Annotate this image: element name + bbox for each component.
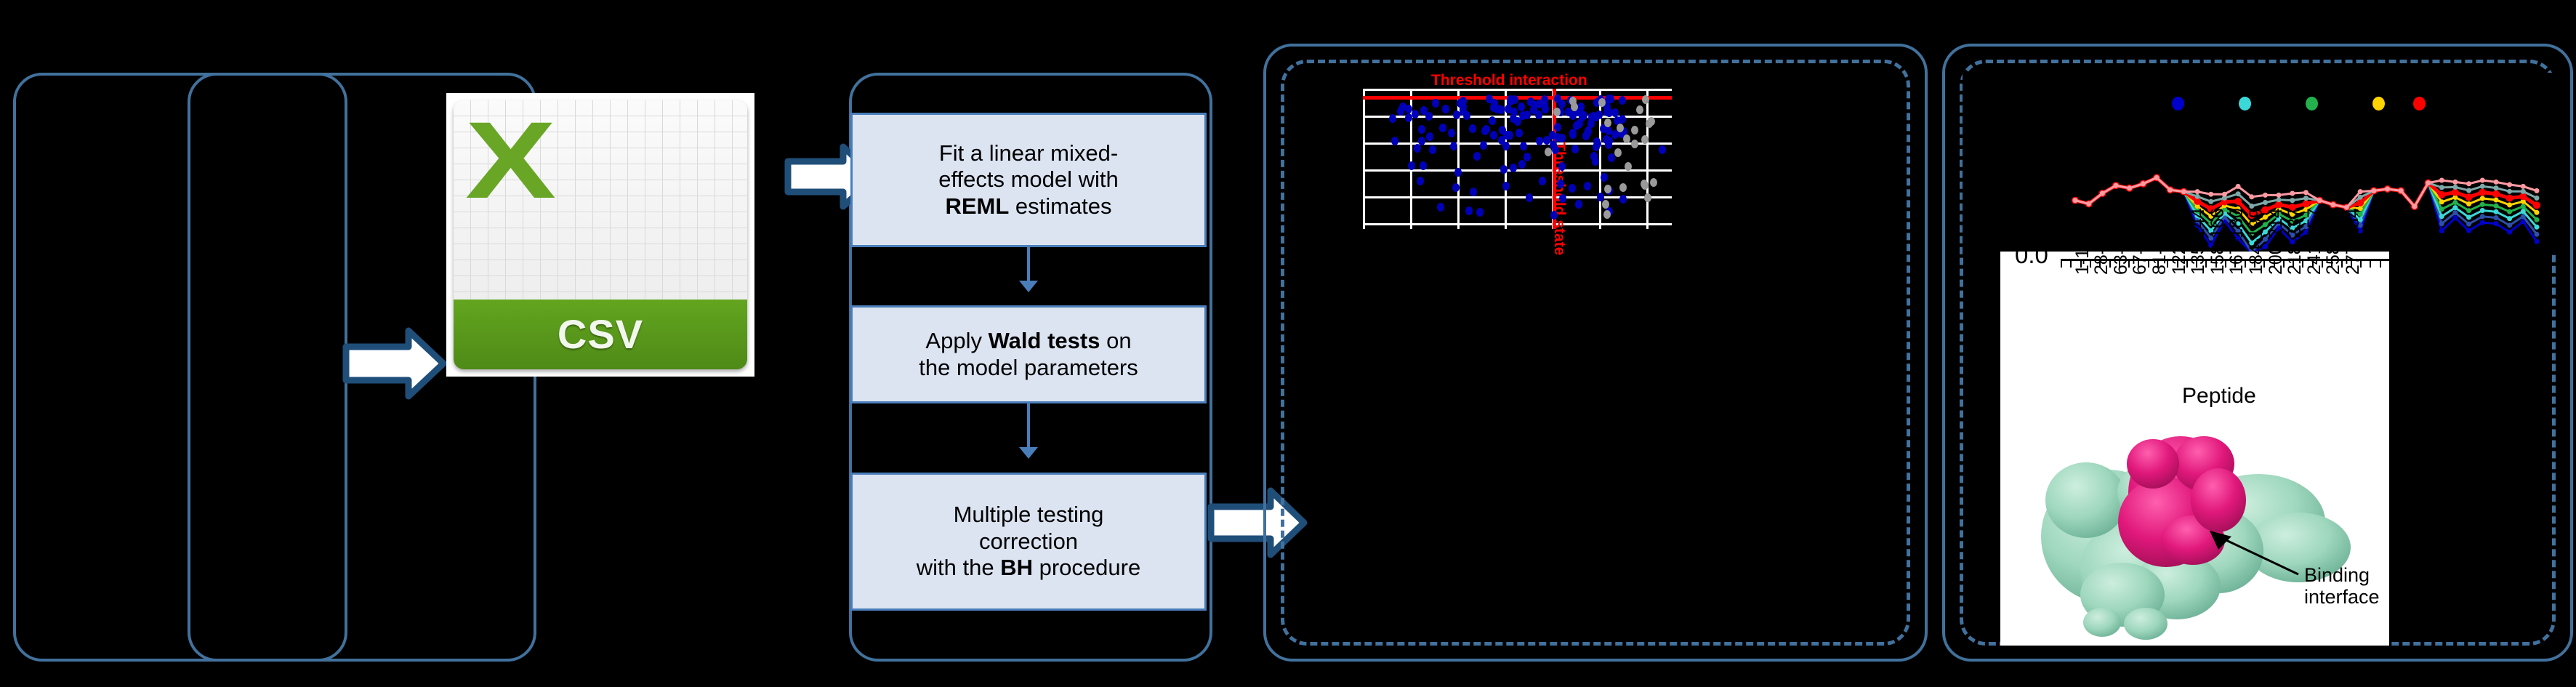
peptide-series-marker bbox=[2208, 192, 2213, 197]
volcano-point bbox=[1569, 184, 1576, 193]
step-bh-box[interactable]: Multiple testing correction with the BH … bbox=[850, 473, 1207, 611]
peptide-x-label: 241-257 bbox=[2304, 208, 2325, 275]
connector-model-wald-tip bbox=[1019, 281, 1038, 292]
volcano-point bbox=[1391, 137, 1398, 145]
peptide-series-marker bbox=[2263, 193, 2268, 198]
volcano-point bbox=[1577, 103, 1585, 111]
volcano-point-ns bbox=[1636, 105, 1643, 114]
volcano-point-ns bbox=[1619, 183, 1627, 192]
peptide-series-marker bbox=[2234, 198, 2242, 205]
peptide-x-tick bbox=[2389, 259, 2391, 268]
peptide-series-marker bbox=[2439, 199, 2444, 204]
peptide-series-marker bbox=[2277, 197, 2282, 202]
csv-letter: X bbox=[465, 105, 627, 214]
volcano-point bbox=[1439, 124, 1446, 132]
peptide-x-label: 184-199 bbox=[2246, 208, 2267, 275]
peptide-series-marker bbox=[2452, 180, 2458, 185]
volcano-point bbox=[1389, 114, 1396, 123]
arrow-to-data bbox=[342, 325, 448, 402]
peptide-x-label: 122-129 bbox=[2169, 208, 2190, 275]
peptide-series-marker bbox=[2479, 189, 2486, 196]
peptide-axis-area: 0.0 1-1528-4463-7367-7581-101122-129135-… bbox=[2000, 252, 2389, 413]
peptide-series-marker bbox=[2480, 196, 2485, 201]
step-wald-pre: Apply bbox=[925, 328, 988, 353]
peptide-series-marker bbox=[2480, 202, 2485, 207]
csv-label: CSV bbox=[558, 310, 643, 358]
volcano-point bbox=[1550, 211, 1558, 220]
peptide-series-marker bbox=[2480, 208, 2485, 213]
volcano-point bbox=[1580, 111, 1587, 120]
peptide-series-marker bbox=[2480, 214, 2485, 219]
volcano-point bbox=[1575, 200, 1582, 209]
volcano-point bbox=[1576, 119, 1583, 128]
peptide-series-marker bbox=[2466, 188, 2471, 193]
volcano-point bbox=[1535, 111, 1542, 119]
peptide-series-marker bbox=[2494, 185, 2499, 190]
peptide-series-marker bbox=[2535, 210, 2540, 215]
volcano-point bbox=[1603, 135, 1610, 144]
volcano-point bbox=[1414, 144, 1421, 153]
volcano-point-ns bbox=[1631, 140, 1638, 148]
volcano-point bbox=[1569, 130, 1577, 139]
volcano-point-ns bbox=[1569, 97, 1577, 105]
csv-badge: X CSV bbox=[454, 100, 747, 369]
peptide-x-label: 63-73 bbox=[2111, 228, 2132, 275]
peptide-x-label: 277-284 bbox=[2343, 208, 2364, 275]
step-bh-line3pre: with the bbox=[917, 555, 1000, 580]
volcano-point-ns bbox=[1648, 117, 1655, 126]
volcano-point bbox=[1426, 132, 1433, 141]
peptide-series-marker bbox=[2168, 188, 2173, 193]
volcano-point bbox=[1450, 142, 1457, 150]
peptide-series-marker bbox=[2195, 194, 2200, 199]
peptide-series-marker bbox=[2521, 184, 2526, 189]
volcano-plot bbox=[1363, 227, 1672, 374]
peptide-series-marker bbox=[2439, 221, 2444, 226]
binding-interface-line1: Binding bbox=[2304, 564, 2380, 586]
step-bh-line2: correction bbox=[979, 529, 1078, 554]
peptide-series-marker bbox=[2358, 189, 2363, 194]
peptide-series-marker bbox=[2358, 195, 2363, 200]
peptide-series-marker bbox=[2452, 205, 2458, 210]
volcano-point bbox=[1518, 160, 1526, 169]
peptide-series-marker bbox=[2290, 191, 2295, 196]
volcano-point bbox=[1607, 95, 1614, 103]
peptide-series-marker bbox=[2466, 193, 2473, 201]
volcano-point-ns bbox=[1604, 185, 1611, 193]
peptide-series-marker bbox=[2181, 189, 2186, 194]
peptide-x-label: 135-144 bbox=[2188, 208, 2209, 275]
protein-figure: Binding interface bbox=[2000, 413, 2389, 646]
volcano-point bbox=[1470, 188, 1477, 196]
peptide-x-label: 158-166 bbox=[2207, 208, 2229, 275]
volcano-point bbox=[1432, 99, 1439, 108]
peptide-series-marker bbox=[2277, 193, 2282, 198]
csv-file-icon: X CSV bbox=[446, 93, 754, 377]
protein-surface-render bbox=[2000, 413, 2389, 646]
volcano-point bbox=[1408, 161, 1415, 170]
volcano-point bbox=[1481, 126, 1489, 135]
step-bh-bold: BH bbox=[1000, 555, 1033, 580]
volcano-point bbox=[1520, 142, 1527, 150]
volcano-point bbox=[1399, 103, 1406, 111]
peptide-series-marker bbox=[2222, 192, 2227, 197]
volcano-point bbox=[1539, 177, 1546, 185]
volcano-point bbox=[1500, 165, 1508, 174]
volcano-point bbox=[1541, 95, 1548, 104]
peptide-series-marker bbox=[2439, 185, 2444, 190]
step-wald-line2: the model parameters bbox=[919, 355, 1138, 380]
peptide-series-marker bbox=[2452, 200, 2458, 205]
peptide-series-marker bbox=[2507, 222, 2512, 228]
peptide-series-marker bbox=[2154, 175, 2160, 180]
peptide-series-marker bbox=[2494, 221, 2499, 226]
peptide-series-marker bbox=[2371, 188, 2376, 193]
volcano-point-ns bbox=[1642, 95, 1649, 104]
peptide-series-marker bbox=[2317, 198, 2322, 203]
volcano-point bbox=[1571, 145, 1579, 153]
volcano-point bbox=[1469, 124, 1476, 133]
step-bh-line1: Multiple testing bbox=[954, 502, 1104, 527]
volcano-point bbox=[1606, 108, 1613, 117]
peptide-series-marker bbox=[2507, 189, 2512, 194]
step-model-box[interactable]: Fit a linear mixed- effects model with R… bbox=[850, 113, 1207, 247]
volcano-point bbox=[1510, 164, 1517, 172]
volcano-point bbox=[1510, 108, 1518, 116]
peptide-series-marker bbox=[2399, 188, 2404, 193]
peptide-series-marker bbox=[2438, 191, 2445, 198]
volcano-point bbox=[1536, 137, 1543, 145]
volcano-point bbox=[1531, 101, 1538, 110]
volcano-point bbox=[1437, 203, 1444, 212]
peptide-series-marker bbox=[2236, 191, 2241, 196]
binding-interface-caption: Binding interface bbox=[2304, 564, 2380, 608]
peptide-x-label: 1-15 bbox=[2072, 238, 2093, 275]
peptide-series-marker bbox=[2385, 187, 2390, 192]
volcano-point bbox=[1594, 140, 1601, 148]
step-model-line1: Fit a linear mixed- bbox=[939, 140, 1118, 166]
peptide-x-label: 200-214 bbox=[2266, 208, 2287, 275]
connector-model-wald bbox=[1027, 247, 1030, 282]
volcano-point-ns bbox=[1641, 180, 1648, 188]
peptide-series-marker bbox=[2494, 209, 2499, 214]
volcano-point bbox=[1473, 152, 1481, 161]
volcano-point bbox=[1417, 177, 1424, 185]
step-wald-text: Apply Wald tests on the model parameters bbox=[919, 328, 1138, 381]
peptide-series-marker bbox=[2114, 183, 2119, 188]
volcano-point bbox=[1659, 145, 1666, 154]
volcano-point bbox=[1465, 206, 1473, 215]
peptide-series-marker bbox=[2263, 200, 2268, 205]
peptide-series-marker bbox=[2507, 182, 2512, 188]
volcano-point bbox=[1442, 105, 1449, 113]
peptide-series-marker bbox=[2521, 189, 2526, 194]
peptide-series-marker bbox=[2480, 178, 2485, 183]
volcano-point-ns bbox=[1604, 118, 1611, 127]
step-model-line2: effects model with bbox=[938, 166, 1119, 192]
peptide-series-marker bbox=[2452, 185, 2458, 190]
peptide-series-marker bbox=[2535, 196, 2540, 201]
threshold-interaction-label: Threshold interaction bbox=[1431, 72, 1587, 89]
volcano-point-ns bbox=[1545, 148, 1552, 156]
volcano-point bbox=[1557, 180, 1564, 188]
volcano-point-ns bbox=[1631, 126, 1638, 134]
volcano-point-ns bbox=[1614, 148, 1622, 157]
peptide-x-label: 218-237 bbox=[2285, 208, 2306, 275]
peptide-series-marker bbox=[2506, 195, 2513, 202]
peptide-series-marker bbox=[2439, 228, 2444, 233]
volcano-point bbox=[1425, 112, 1433, 121]
peptide-series-marker bbox=[2494, 198, 2499, 203]
peptide-series-marker bbox=[2535, 225, 2540, 230]
connector-wald-bh-tip bbox=[1019, 447, 1038, 459]
peptide-series-marker bbox=[2466, 228, 2471, 233]
volcano-point bbox=[1429, 145, 1436, 154]
peptide-x-label: 67-75 bbox=[2130, 228, 2151, 275]
peptide-series-marker bbox=[2466, 208, 2471, 213]
volcano-point bbox=[1480, 141, 1487, 150]
peptide-series-marker bbox=[2330, 202, 2335, 207]
volcano-point bbox=[1595, 111, 1603, 119]
peptide-x-label: 28-44 bbox=[2091, 228, 2112, 275]
volcano-point bbox=[1420, 161, 1427, 170]
peptide-series-marker bbox=[2236, 184, 2241, 189]
peptide-x-label: 258-266 bbox=[2323, 208, 2344, 275]
volcano-point bbox=[1494, 105, 1501, 113]
peptide-series-marker bbox=[2100, 191, 2105, 196]
peptide-series-marker bbox=[2533, 201, 2540, 209]
peptide-series-marker bbox=[2303, 190, 2309, 195]
volcano-point bbox=[1452, 183, 1460, 192]
volcano-point bbox=[1526, 193, 1533, 202]
step-model-reml: REML bbox=[945, 193, 1009, 219]
volcano-point bbox=[1558, 100, 1566, 108]
peptide-series-marker bbox=[2141, 181, 2146, 186]
peptide-series-marker bbox=[2507, 216, 2512, 221]
peptide-series-marker bbox=[2535, 239, 2540, 244]
volcano-point bbox=[1619, 96, 1626, 105]
connector-wald-bh bbox=[1027, 403, 1030, 449]
peptide-series-marker bbox=[2127, 185, 2132, 190]
volcano-point-ns bbox=[1625, 162, 1632, 171]
peptide-series-marker bbox=[2480, 220, 2485, 225]
volcano-point bbox=[1549, 131, 1556, 140]
volcano-point bbox=[1502, 182, 1510, 190]
peptide-series-marker bbox=[2494, 204, 2499, 209]
volcano-point-ns bbox=[1598, 98, 1606, 107]
peptide-series-marker bbox=[2208, 199, 2213, 204]
volcano-point bbox=[1454, 168, 1462, 177]
volcano-point bbox=[1412, 110, 1419, 118]
step-model-line3rest: estimates bbox=[1009, 193, 1111, 219]
peptide-series-marker bbox=[2466, 214, 2471, 220]
volcano-point bbox=[1490, 131, 1497, 140]
peptide-series-marker bbox=[2466, 181, 2471, 186]
peptide-x-label: 167-180 bbox=[2226, 208, 2247, 275]
volcano-point bbox=[1418, 125, 1425, 134]
peptide-series-marker bbox=[2452, 210, 2458, 215]
peptide-series-marker bbox=[2507, 230, 2512, 235]
binding-interface-line2: interface bbox=[2304, 586, 2380, 608]
peptide-series-marker bbox=[2439, 178, 2444, 183]
volcano-point bbox=[1601, 173, 1608, 182]
peptide-series-marker bbox=[2426, 180, 2431, 185]
step-model-text: Fit a linear mixed- effects model with R… bbox=[938, 140, 1119, 220]
volcano-point bbox=[1489, 116, 1496, 125]
peptide-series-marker bbox=[2303, 196, 2309, 201]
peptide-x-label: 81-101 bbox=[2149, 218, 2170, 275]
peptide-series-marker bbox=[2412, 204, 2417, 209]
volcano-point-ns bbox=[1623, 134, 1630, 143]
volcano-point-ns bbox=[1553, 108, 1561, 116]
volcano-point bbox=[1559, 194, 1566, 203]
peptide-series-marker bbox=[2480, 184, 2485, 189]
volcano-point bbox=[1524, 153, 1531, 161]
peptide-series-marker bbox=[2452, 215, 2458, 220]
step-wald-box[interactable]: Apply Wald tests on the model parameters bbox=[850, 305, 1207, 403]
volcano-point bbox=[1448, 129, 1455, 137]
volcano-point bbox=[1453, 111, 1460, 119]
peptide-series-marker bbox=[2494, 215, 2499, 220]
peptide-series-marker bbox=[2535, 188, 2540, 193]
peptide-series-marker bbox=[2195, 189, 2200, 194]
peptide-series-marker bbox=[2507, 202, 2512, 207]
peptide-series-marker bbox=[2249, 194, 2254, 199]
peptide-series-marker bbox=[2466, 201, 2471, 206]
csv-label-band: CSV bbox=[454, 300, 747, 369]
volcano-point-ns bbox=[1641, 135, 1649, 144]
peptide-series-marker bbox=[2439, 206, 2444, 212]
peptide-series-marker bbox=[2452, 189, 2459, 196]
volcano-point-ns bbox=[1603, 210, 1611, 219]
peptide-series-marker bbox=[2535, 217, 2540, 222]
peptide-series-marker bbox=[2507, 209, 2512, 214]
volcano-point bbox=[1554, 123, 1561, 132]
peptide-x-axis-title: Peptide bbox=[2182, 384, 2256, 409]
step-bh-line3post: procedure bbox=[1033, 555, 1140, 580]
volcano-point bbox=[1558, 162, 1566, 171]
peptide-series-marker bbox=[2521, 204, 2526, 209]
volcano-point bbox=[1584, 182, 1591, 190]
peptide-series-marker bbox=[2073, 198, 2078, 203]
peptide-series-marker bbox=[2535, 232, 2540, 237]
volcano-point bbox=[1507, 97, 1514, 105]
peptide-series-marker bbox=[2492, 190, 2500, 198]
volcano-point bbox=[1502, 142, 1510, 150]
peptide-series-marker bbox=[2439, 214, 2444, 219]
volcano-point bbox=[1516, 129, 1523, 137]
volcano-point-ns bbox=[1644, 193, 1651, 202]
peptide-series-marker bbox=[2086, 201, 2091, 206]
peptide-series-marker bbox=[2494, 180, 2499, 185]
peptide-series-marker bbox=[2290, 198, 2295, 203]
step-wald-post: on bbox=[1100, 328, 1131, 353]
volcano-point bbox=[1518, 103, 1525, 111]
peptide-series-marker bbox=[2303, 200, 2310, 207]
volcano-point bbox=[1524, 111, 1531, 119]
volcano-point bbox=[1619, 195, 1627, 204]
excel-x-glyph: X bbox=[465, 105, 595, 245]
volcano-point-ns bbox=[1650, 178, 1657, 187]
volcano-point bbox=[1476, 208, 1484, 217]
step-bh-text: Multiple testing correction with the BH … bbox=[917, 502, 1140, 582]
step-wald-bold: Wald tests bbox=[989, 328, 1100, 353]
volcano-point bbox=[1582, 132, 1590, 140]
volcano-point bbox=[1592, 157, 1599, 166]
peptide-series-marker bbox=[2466, 222, 2471, 227]
